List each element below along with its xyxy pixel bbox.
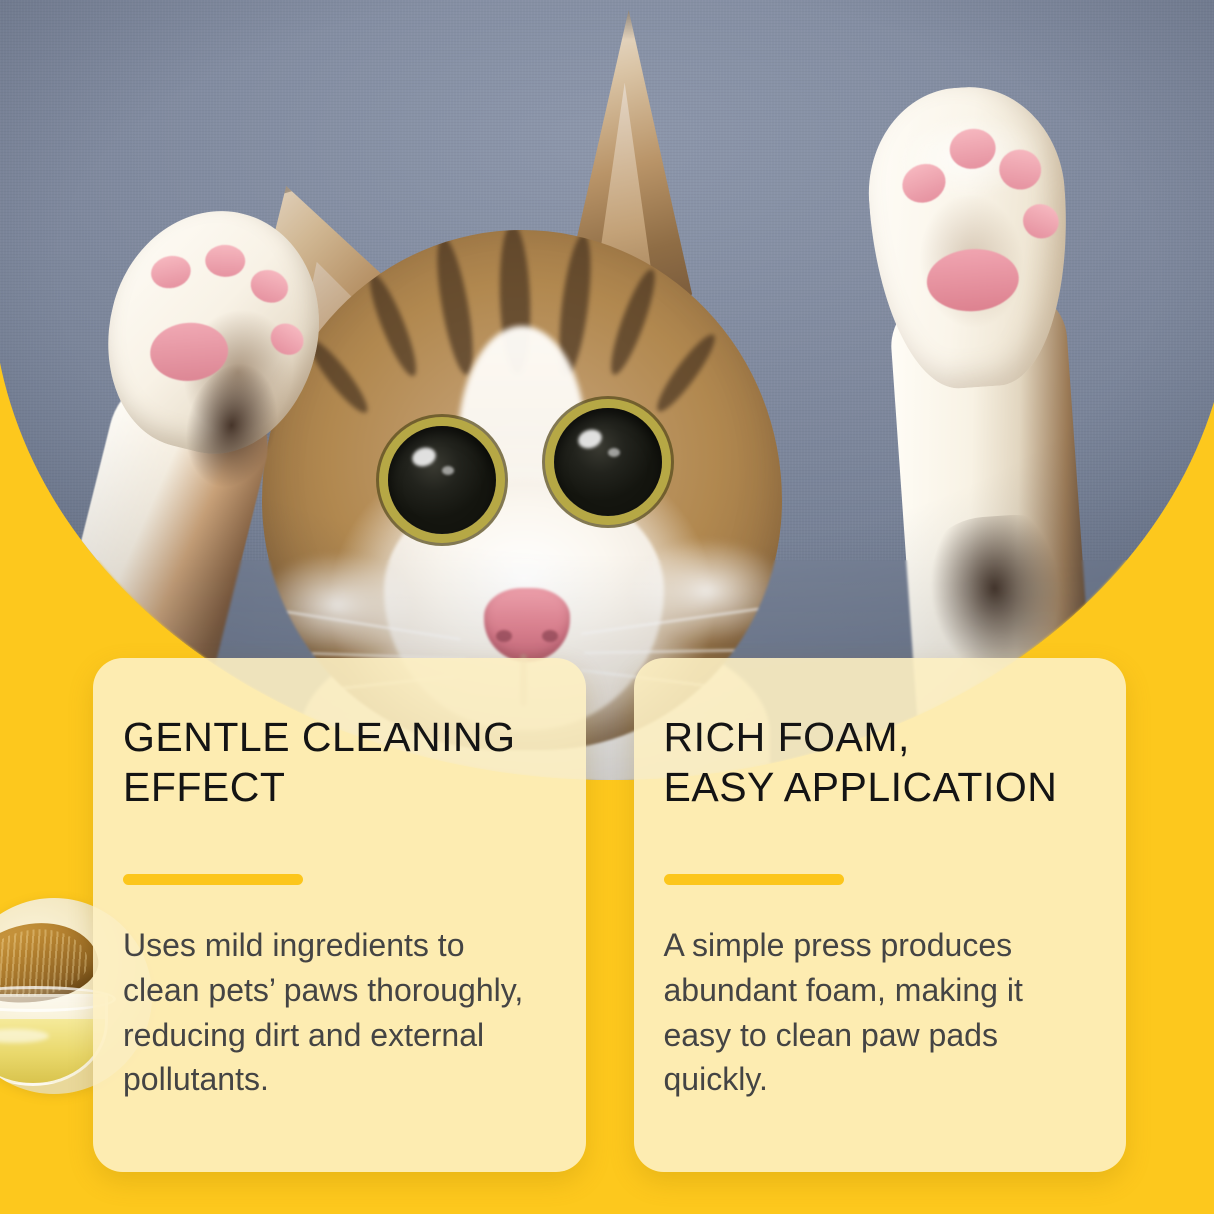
accent-divider-bar xyxy=(123,874,303,885)
feature-title: GENTLE CLEANING EFFECT xyxy=(123,712,546,812)
feature-title: RICH FOAM, EASY APPLICATION xyxy=(664,712,1087,812)
pale-yellow-oil xyxy=(0,1019,105,1083)
feature-description: Uses mild ingredients to clean pets’ paw… xyxy=(123,923,546,1102)
feature-card-gentle-cleaning: GENTLE CLEANING EFFECT Uses mild ingredi… xyxy=(93,658,586,1172)
feature-card-rich-foam: RICH FOAM, EASY APPLICATION A simple pre… xyxy=(634,658,1127,1172)
feature-card-row: GENTLE CLEANING EFFECT Uses mild ingredi… xyxy=(93,658,1126,1172)
oil-highlight xyxy=(0,1029,49,1043)
accent-divider-bar xyxy=(664,874,844,885)
infographic-canvas: GENTLE CLEANING EFFECT Uses mild ingredi… xyxy=(0,0,1214,1214)
feature-description: A simple press produces abundant foam, m… xyxy=(664,923,1087,1102)
